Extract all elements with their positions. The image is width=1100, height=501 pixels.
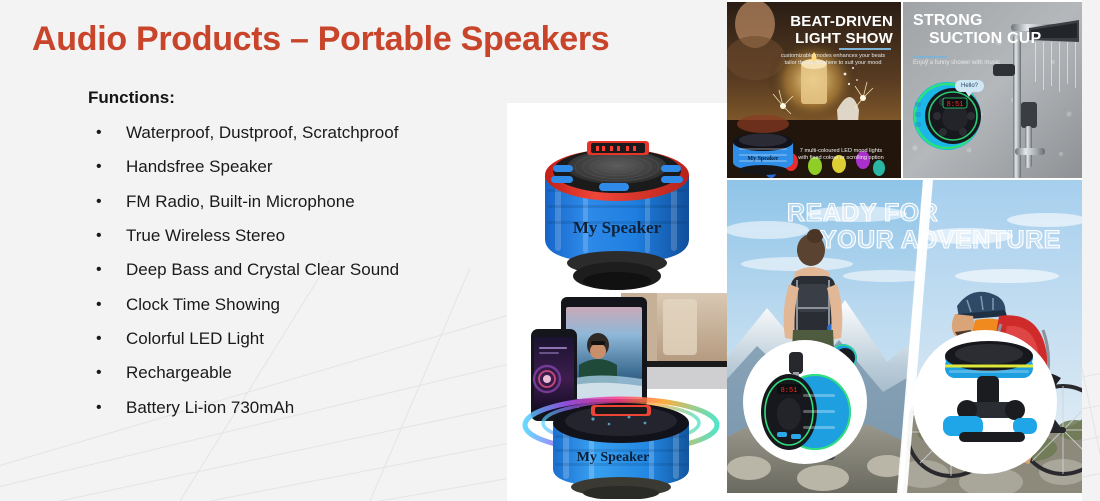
list-item-label: Deep Bass and Crystal Clear Sound xyxy=(126,260,399,279)
list-item-label: Battery Li-ion 730mAh xyxy=(126,398,294,417)
speaker-product-photo: My Speaker xyxy=(521,113,713,303)
bullet-icon: • xyxy=(96,297,102,314)
list-item: •Battery Li-ion 730mAh xyxy=(88,399,508,417)
list-item: •Colorful LED Light xyxy=(88,330,508,348)
light-show-speaker-label: My Speaker xyxy=(747,156,779,162)
suction-cup-divider xyxy=(913,56,947,58)
speaker-with-devices-photo: My Speaker xyxy=(513,293,727,499)
light-show-headline: BEAT-DRIVEN LIGHT SHOW xyxy=(785,14,893,48)
marketing-collage: My Speaker BEAT-DRIVEN LIGHT SHOW custom… xyxy=(727,0,1082,501)
list-item: •FM Radio, Built-in Microphone xyxy=(88,193,508,211)
list-item: •Waterproof, Dustproof, Scratchproof xyxy=(88,124,508,142)
bullet-icon: • xyxy=(96,159,102,176)
list-item-label: Handsfree Speaker xyxy=(126,157,272,176)
adventure-panel: 8:51 xyxy=(727,180,1082,493)
slide-canvas: Audio Products – Portable Speakers Funct… xyxy=(0,0,1100,501)
list-item: •Deep Bass and Crystal Clear Sound xyxy=(88,261,508,279)
speech-bubble: Hello? xyxy=(955,80,984,92)
functions-section: Functions: •Waterproof, Dustproof, Scrat… xyxy=(88,88,508,433)
list-item-label: Rechargeable xyxy=(126,363,232,382)
bullet-icon: • xyxy=(96,262,102,279)
suction-cup-subtitle: Enjoy a funny shower with music xyxy=(913,60,1000,68)
functions-heading: Functions: xyxy=(88,88,508,108)
adventure-headline: READY FOR YOUR ADVENTURE xyxy=(787,200,1061,254)
functions-list: •Waterproof, Dustproof, Scratchproof •Ha… xyxy=(88,124,508,417)
list-item: •Clock Time Showing xyxy=(88,296,508,314)
light-show-divider xyxy=(839,48,891,50)
list-item-label: Colorful LED Light xyxy=(126,329,264,348)
clock-display: 8:51 xyxy=(947,101,964,109)
light-show-panel: My Speaker BEAT-DRIVEN LIGHT SHOW custom… xyxy=(727,2,901,178)
light-show-footer: 7 multi-coloured LED mood lights with fi… xyxy=(785,148,897,161)
speaker-brand-label: My Speaker xyxy=(577,450,650,465)
inset-clock-display: 8:51 xyxy=(781,387,798,395)
bullet-icon: • xyxy=(96,125,102,142)
list-item-label: Clock Time Showing xyxy=(126,295,280,314)
suction-cup-headline: STRONG SUCTION CUP xyxy=(913,12,1041,48)
bullet-icon: • xyxy=(96,228,102,245)
page-title: Audio Products – Portable Speakers xyxy=(32,20,609,59)
bullet-icon: • xyxy=(96,194,102,211)
list-item-label: True Wireless Stereo xyxy=(126,226,285,245)
list-item: •Rechargeable xyxy=(88,364,508,382)
bullet-icon: • xyxy=(96,400,102,417)
bullet-icon: • xyxy=(96,331,102,348)
speaker-brand-label: My Speaker xyxy=(573,218,662,237)
list-item: •True Wireless Stereo xyxy=(88,227,508,245)
list-item-label: FM Radio, Built-in Microphone xyxy=(126,192,355,211)
product-photo-panel: My Speaker xyxy=(507,103,727,501)
list-item-label: Waterproof, Dustproof, Scratchproof xyxy=(126,123,398,142)
list-item: •Handsfree Speaker xyxy=(88,158,508,176)
bullet-icon: • xyxy=(96,365,102,382)
light-show-subtitle: customizable modes enhances your beats t… xyxy=(769,53,897,67)
suction-cup-panel: 8:51 STRONG SUCTION CUP Enjoy a funny sh… xyxy=(903,2,1082,178)
